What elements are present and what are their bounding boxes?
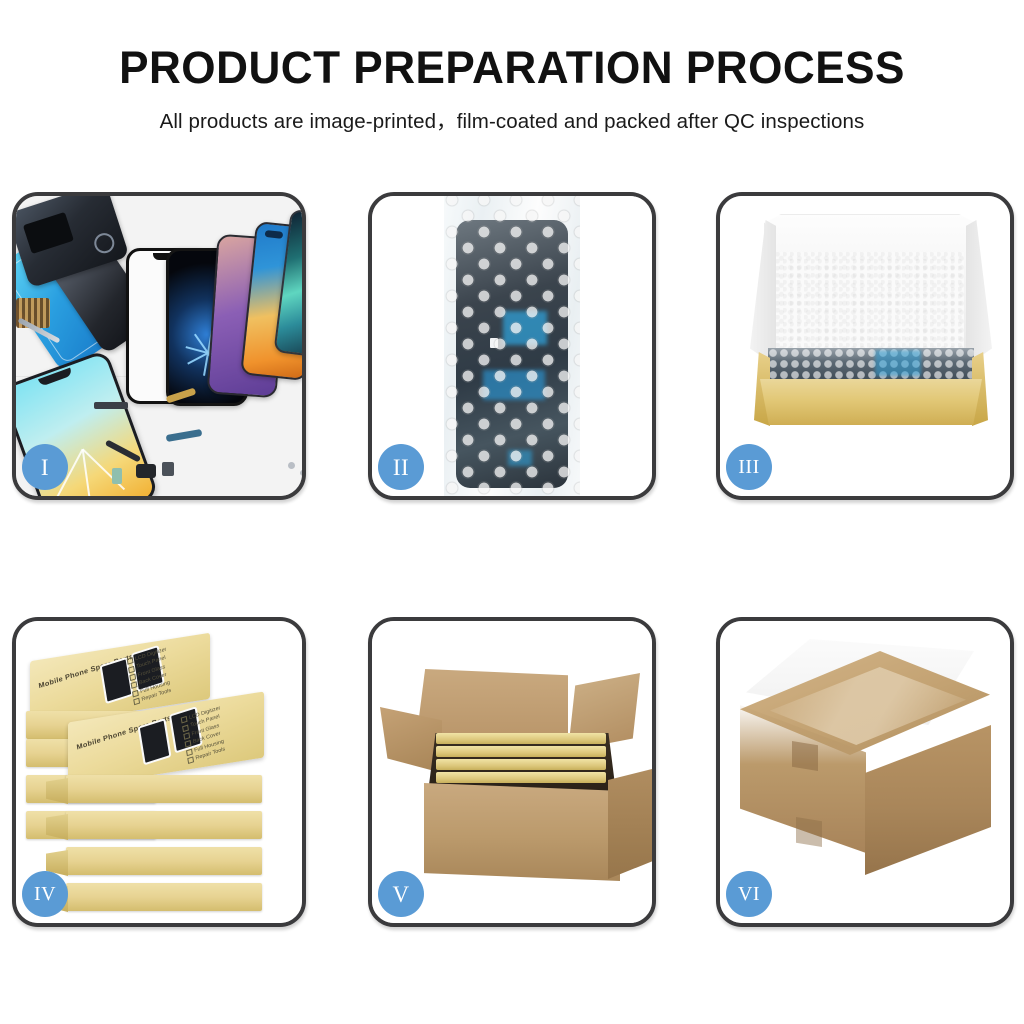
box-checklist: LCD Digitizer Touch Panel Front Glass Ba… [181,694,262,766]
button-part-icon [162,462,174,476]
step-badge-2: II [378,444,424,490]
carton-front-panel [424,783,620,881]
retail-box-front [66,811,262,839]
retail-box-in-carton [436,772,606,783]
speaker-module-icon [136,464,156,478]
earpiece-mesh-icon [94,402,128,409]
retail-box-in-carton [436,746,606,757]
header: PRODUCT PREPARATION PROCESS All products… [0,44,1024,134]
wrapped-screens-in-box [768,348,974,382]
box-front-panel [760,379,982,425]
step-badge-3: III [726,444,772,490]
carton-side-panel [608,769,652,879]
retail-box-front [66,847,262,875]
phone-thumbnail [138,718,172,765]
connector-icon [112,468,122,484]
retail-box-in-carton [436,759,606,770]
step-panel-5: V [368,617,656,927]
box-checklist: LCD Digitizer Touch Panel Front Glass Ba… [127,635,208,707]
step-badge-5: V [378,871,424,917]
step-panel-1: I [12,192,306,500]
screw-icon [300,470,302,476]
packed-retail-boxes [430,731,614,787]
step-badge-1: I [22,444,68,490]
step-badge-6: VI [726,871,772,917]
step-panel-2: II [368,192,656,500]
carton-seam-tab [796,817,822,847]
step-panel-6: VI [716,617,1014,927]
checkbox-icon [187,756,194,764]
retail-box-in-carton [436,733,606,744]
blue-film-highlight [875,350,921,376]
foam-padding [776,252,964,350]
page-subtitle: All products are image-printed，film-coat… [0,104,1024,134]
page-title: PRODUCT PREPARATION PROCESS [10,44,1014,91]
bubble-highlight-layer [444,196,580,496]
checkbox-icon [133,698,140,706]
step-badge-4: IV [22,871,68,917]
carton-seam-tab [792,741,818,771]
bubble-bag-icon [444,196,580,496]
bubble-texture [768,348,974,382]
step-panel-4: Mobile Phone Spare Parts LCD Digitizer T… [12,617,306,927]
screw-icon [288,462,295,469]
product-preparation-infographic: PRODUCT PREPARATION PROCESS All products… [0,0,1024,1024]
step-panel-3: III [716,192,1014,500]
retail-box-front [66,775,262,803]
retail-box-front [66,883,262,911]
punch-hole-camera [265,230,284,239]
stacked-retail-boxes-icon: Mobile Phone Spare Parts LCD Digitizer T… [22,635,298,917]
